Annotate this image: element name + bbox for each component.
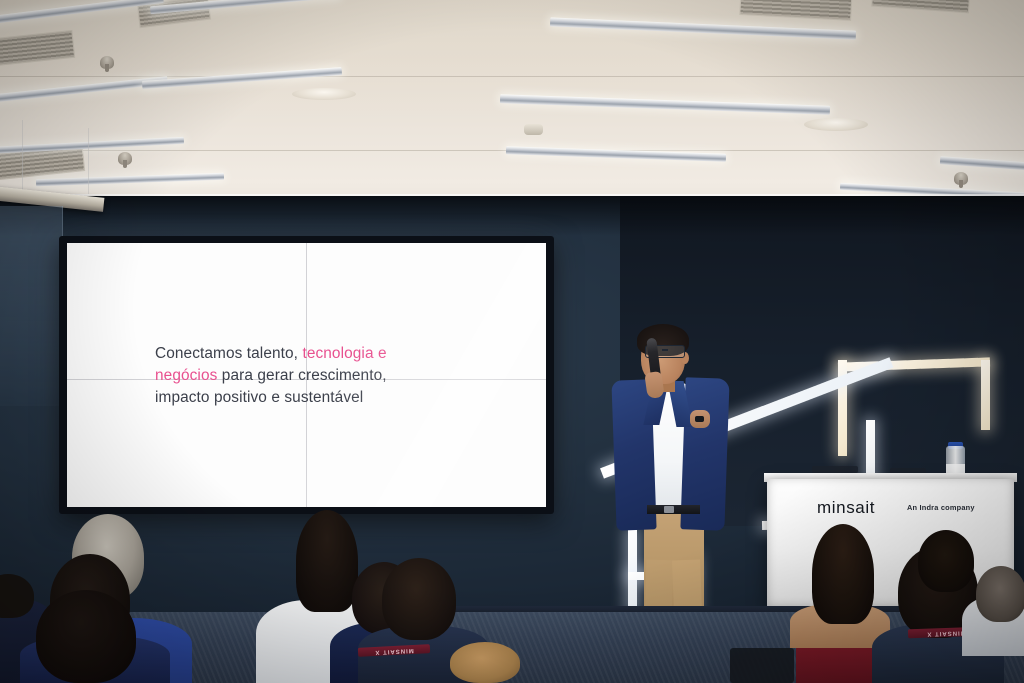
audience-member-head (36, 590, 136, 683)
speaker-left-hand (644, 371, 664, 399)
sprinkler-head-icon (118, 152, 132, 165)
hvac-diffuser-icon (871, 0, 971, 13)
video-wall-frame: Conectamos talento, tecnologia e negócio… (59, 236, 554, 514)
audience-member-head (382, 558, 456, 640)
slide-headline: Conectamos talento, tecnologia e negócio… (155, 343, 515, 409)
audience-member-head (918, 530, 974, 592)
light-frame-warm-right (981, 360, 990, 430)
smoke-detector-icon (524, 124, 543, 135)
podium-tagline: An Indra company (907, 503, 975, 512)
audience-member-head (812, 524, 874, 624)
slide-line2-highlight: negócios (155, 367, 217, 384)
ceiling-speaker-icon (804, 118, 868, 131)
slide-line3-plain: impacto positivo e sustentável (155, 389, 363, 406)
minsait-logo: minsait (817, 498, 875, 518)
audience-member-head (450, 642, 520, 683)
audience-member-head (296, 510, 358, 612)
hvac-diffuser-icon (739, 0, 853, 21)
speaker-belt-buckle (664, 506, 674, 513)
slide-line1-highlight: tecnologia e (302, 345, 386, 362)
fixture-wire (22, 120, 23, 194)
presentation-screen: Conectamos talento, tecnologia e negócio… (67, 243, 546, 507)
conference-photo-scene: Conectamos talento, tecnologia e negócio… (0, 0, 1024, 683)
ceiling-speaker-icon (292, 88, 356, 100)
chair (730, 648, 794, 683)
fixture-wire (88, 128, 89, 194)
wall-top-shadow (0, 196, 1024, 236)
ceiling-light-strip (0, 137, 184, 154)
desk-item (812, 466, 858, 473)
ceiling-light-strip (550, 17, 856, 39)
presentation-clicker-icon (695, 416, 704, 422)
ceiling-light-strip (500, 94, 830, 115)
slide-line2-plain: para gerar crescimento, (217, 367, 386, 384)
sprinkler-head-icon (954, 172, 968, 185)
audience-member-head (976, 566, 1024, 622)
ceiling (0, 0, 1024, 212)
ceiling-light-strip (36, 173, 224, 187)
ceiling-light-strip (142, 67, 342, 89)
hvac-diffuser-icon (0, 30, 75, 66)
glass-partition (0, 206, 63, 406)
sprinkler-head-icon (100, 56, 114, 69)
slide-line1-plain: Conectamos talento, (155, 345, 302, 362)
ceiling-light-strip (940, 156, 1024, 172)
light-frame-far-left (628, 530, 637, 610)
ceiling-light-strip (506, 146, 726, 162)
